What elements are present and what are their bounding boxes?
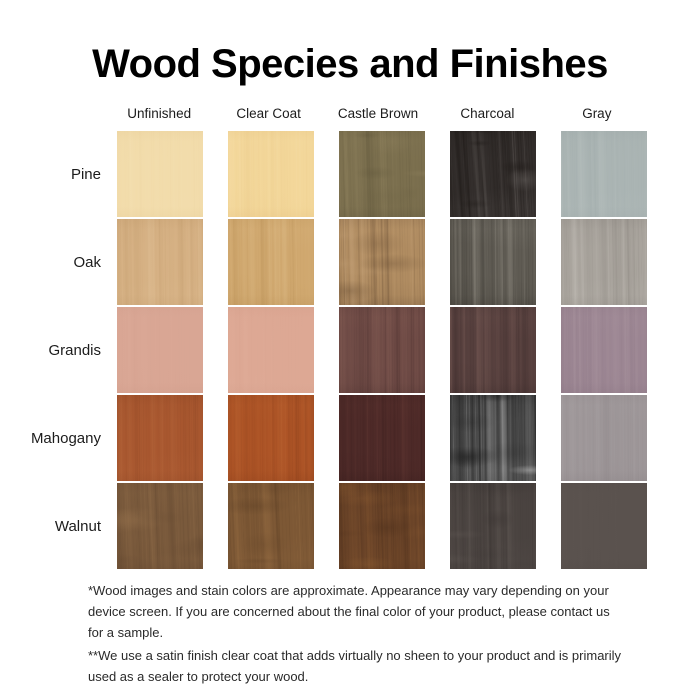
wood-grain-texture	[339, 131, 425, 217]
swatch-grandis-clear-coat[interactable]	[228, 307, 314, 393]
wood-grain-texture	[339, 483, 425, 569]
swatch-walnut-unfinished[interactable]	[117, 483, 203, 569]
wood-grain-texture	[339, 395, 425, 481]
swatch-walnut-charcoal[interactable]	[450, 483, 536, 569]
swatch-oak-charcoal[interactable]	[450, 219, 536, 305]
swatch-row: Mahogany	[117, 395, 639, 481]
swatch-row: Walnut	[117, 483, 639, 569]
swatch-oak-unfinished[interactable]	[117, 219, 203, 305]
wood-grain-texture	[117, 395, 203, 481]
swatch-mahogany-castle-brown[interactable]	[339, 395, 425, 481]
wood-finish-chart: Wood Species and Finishes UnfinishedClea…	[0, 0, 700, 700]
wood-grain-texture	[228, 483, 314, 569]
page-title: Wood Species and Finishes	[0, 44, 700, 84]
column-header-label: Castle Brown	[338, 106, 418, 121]
row-label-mahogany: Mahogany	[31, 395, 101, 481]
swatch-mahogany-unfinished[interactable]	[117, 395, 203, 481]
column-header-row: UnfinishedClear CoatCastle BrownCharcoal…	[117, 106, 639, 121]
wood-grain-texture	[228, 307, 314, 393]
column-header-label: Unfinished	[127, 106, 191, 121]
swatch-grandis-castle-brown[interactable]	[339, 307, 425, 393]
swatch-row: Pine	[117, 131, 639, 217]
wood-grain-texture	[450, 307, 536, 393]
swatch-row: Oak	[117, 219, 639, 305]
wood-grain-texture	[561, 395, 647, 481]
wood-grain-texture	[117, 131, 203, 217]
swatch-oak-gray[interactable]	[561, 219, 647, 305]
column-header-label: Clear Coat	[236, 106, 301, 121]
footnote-1: *Wood images and stain colors are approx…	[88, 580, 628, 643]
swatch-grandis-charcoal[interactable]	[450, 307, 536, 393]
column-header-gray: Gray	[555, 106, 639, 121]
column-header-clear-coat: Clear Coat	[226, 106, 310, 121]
row-label-grandis: Grandis	[48, 307, 101, 393]
wood-grain-texture	[117, 219, 203, 305]
column-header-label: Charcoal	[460, 106, 514, 121]
swatch-pine-clear-coat[interactable]	[228, 131, 314, 217]
swatch-pine-gray[interactable]	[561, 131, 647, 217]
swatch-walnut-clear-coat[interactable]	[228, 483, 314, 569]
swatch-oak-castle-brown[interactable]	[339, 219, 425, 305]
swatch-grandis-unfinished[interactable]	[117, 307, 203, 393]
swatch-mahogany-charcoal[interactable]	[450, 395, 536, 481]
row-label-oak: Oak	[73, 219, 101, 305]
footnote-2: **We use a satin finish clear coat that …	[88, 645, 628, 687]
swatch-row: Grandis	[117, 307, 639, 393]
column-header-unfinished: Unfinished	[117, 106, 201, 121]
wood-grain-texture	[450, 131, 536, 217]
footnotes: *Wood images and stain colors are approx…	[88, 580, 628, 689]
swatch-pine-unfinished[interactable]	[117, 131, 203, 217]
swatch-pine-charcoal[interactable]	[450, 131, 536, 217]
wood-grain-texture	[561, 307, 647, 393]
row-label-pine: Pine	[71, 131, 101, 217]
swatch-walnut-castle-brown[interactable]	[339, 483, 425, 569]
wood-grain-texture	[339, 307, 425, 393]
swatch-pine-castle-brown[interactable]	[339, 131, 425, 217]
wood-grain-texture	[117, 483, 203, 569]
wood-grain-texture	[450, 395, 536, 481]
wood-grain-texture	[450, 483, 536, 569]
swatch-mahogany-clear-coat[interactable]	[228, 395, 314, 481]
wood-grain-texture	[561, 219, 647, 305]
column-header-label: Gray	[582, 106, 611, 121]
swatch-walnut-gray[interactable]	[561, 483, 647, 569]
wood-grain-texture	[228, 395, 314, 481]
wood-grain-texture	[228, 131, 314, 217]
wood-grain-texture	[228, 219, 314, 305]
swatch-mahogany-gray[interactable]	[561, 395, 647, 481]
row-label-walnut: Walnut	[55, 483, 101, 569]
wood-grain-texture	[561, 131, 647, 217]
wood-grain-texture	[561, 483, 647, 569]
wood-grain-texture	[450, 219, 536, 305]
swatch-grid: PineOakGrandisMahoganyWalnut	[117, 131, 639, 571]
swatch-oak-clear-coat[interactable]	[228, 219, 314, 305]
column-header-charcoal: Charcoal	[445, 106, 529, 121]
wood-grain-texture	[117, 307, 203, 393]
column-header-castle-brown: Castle Brown	[336, 106, 420, 121]
swatch-grandis-gray[interactable]	[561, 307, 647, 393]
wood-grain-texture	[339, 219, 425, 305]
